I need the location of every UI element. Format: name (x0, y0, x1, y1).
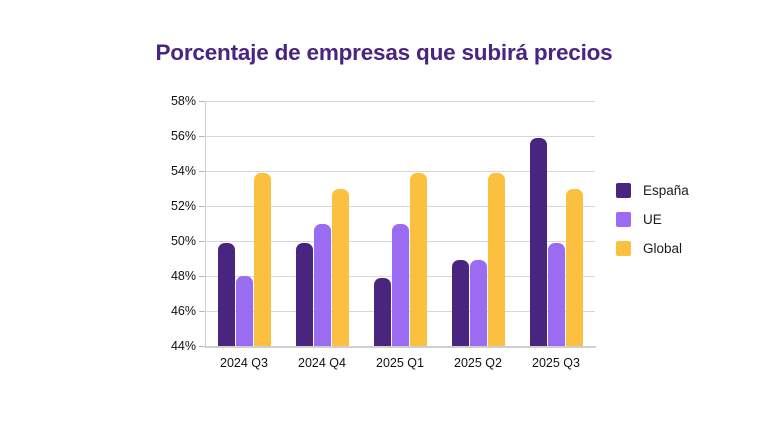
bar[interactable] (332, 189, 349, 347)
y-axis-tick-label: 48% (171, 269, 196, 283)
y-axis-tick-label: 44% (171, 339, 196, 353)
y-axis-tick (199, 311, 205, 312)
bar[interactable] (254, 173, 271, 346)
bar-group (296, 101, 349, 346)
bar[interactable] (488, 173, 505, 346)
x-axis-tick-label: 2024 Q3 (205, 356, 283, 370)
bar[interactable] (314, 224, 331, 347)
chart-legend: EspañaUEGlobal (616, 176, 689, 263)
legend-item[interactable]: España (616, 176, 689, 205)
legend-swatch-icon (616, 241, 631, 256)
y-axis-tick (199, 171, 205, 172)
bar-group (374, 101, 427, 346)
bar[interactable] (218, 243, 235, 346)
legend-swatch-icon (616, 212, 631, 227)
y-axis-tick-label: 58% (171, 94, 196, 108)
bar[interactable] (392, 224, 409, 347)
y-axis-tick (199, 241, 205, 242)
bar[interactable] (566, 189, 583, 347)
legend-item-label: UE (643, 212, 662, 227)
y-axis-tick-label: 54% (171, 164, 196, 178)
bar-group (530, 101, 583, 346)
x-axis-tick-label: 2025 Q1 (361, 356, 439, 370)
y-axis-tick-label: 56% (171, 129, 196, 143)
y-axis-tick-label: 50% (171, 234, 196, 248)
y-axis-tick (199, 206, 205, 207)
bar[interactable] (374, 278, 391, 346)
y-axis-tick (199, 276, 205, 277)
y-axis-tick (199, 136, 205, 137)
chart-title: Porcentaje de empresas que subirá precio… (0, 40, 768, 66)
legend-item[interactable]: Global (616, 234, 689, 263)
bar[interactable] (236, 276, 253, 346)
bar[interactable] (296, 243, 313, 346)
x-axis-line (205, 346, 596, 348)
legend-swatch-icon (616, 183, 631, 198)
plot-area (205, 101, 595, 346)
bar[interactable] (410, 173, 427, 346)
bar-group (218, 101, 271, 346)
bar[interactable] (452, 260, 469, 346)
x-axis-tick-label: 2025 Q2 (439, 356, 517, 370)
legend-item-label: España (643, 183, 689, 198)
legend-item[interactable]: UE (616, 205, 689, 234)
bar-group (452, 101, 505, 346)
x-axis-tick-label: 2025 Q3 (517, 356, 595, 370)
x-axis-tick-label: 2024 Q4 (283, 356, 361, 370)
legend-item-label: Global (643, 241, 682, 256)
bar-chart-figure: Porcentaje de empresas que subirá precio… (0, 0, 768, 432)
y-axis-tick (199, 101, 205, 102)
bar[interactable] (530, 138, 547, 346)
y-axis-tick-label: 46% (171, 304, 196, 318)
bar[interactable] (470, 260, 487, 346)
y-axis-tick-label: 52% (171, 199, 196, 213)
bar[interactable] (548, 243, 565, 346)
